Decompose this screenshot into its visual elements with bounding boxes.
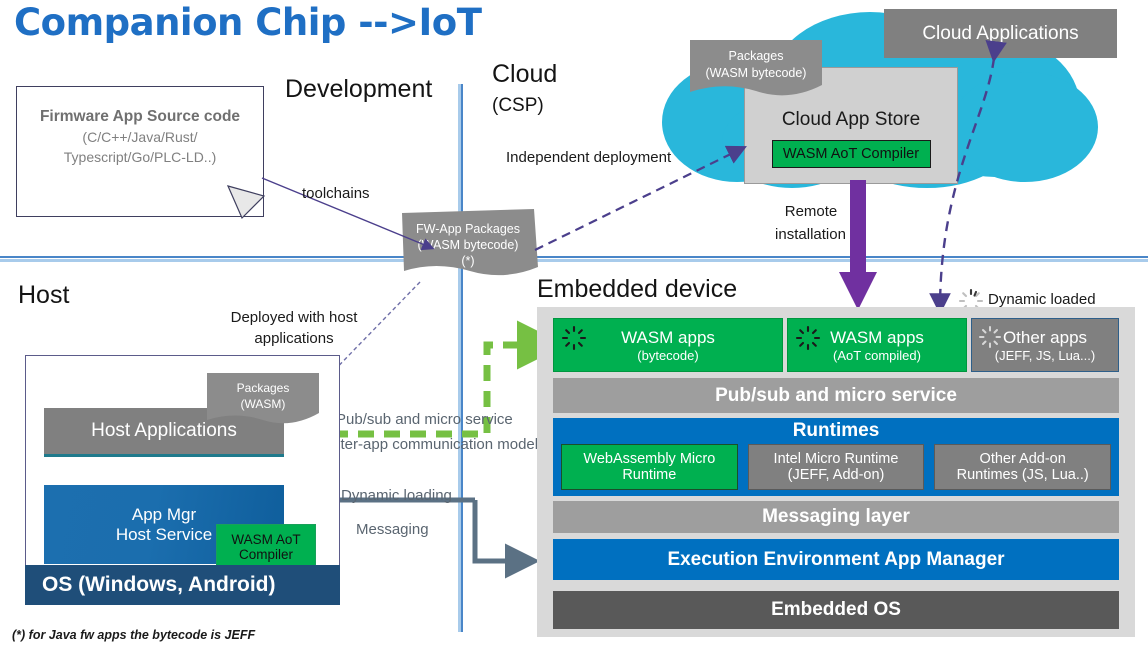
remote-installation-arrow: [838, 180, 878, 312]
runtime-line1-1: Intel Micro Runtime: [774, 451, 899, 467]
runtimes-header-label: Runtimes: [793, 420, 880, 442]
label-inter-app-communication: Inter-app communication models: [328, 436, 546, 453]
embedded-app-sub-1: (AoT compiled): [833, 348, 921, 363]
runtime-line2-2: Runtimes (JS, Lua..): [957, 467, 1089, 483]
embedded-os-label: Embedded OS: [771, 599, 901, 621]
messaging-connector-right: [475, 500, 530, 561]
runtime-line2-1: (JEFF, Add-on): [788, 467, 885, 483]
label-pubsub-micro-service: Pub/sub and micro service: [336, 411, 513, 428]
label-remote-installation-line2: installation: [760, 226, 861, 243]
embedded-app-sub-2: (JEFF, JS, Lua...): [995, 348, 1095, 363]
pubsub-micro-service-bar[interactable]: Pub/sub and micro service: [553, 378, 1119, 413]
footnote: (*) for Java fw apps the bytecode is JEF…: [12, 628, 255, 642]
label-remote-installation-line1: Remote: [775, 203, 847, 220]
host-packages-line2: (WASM): [207, 396, 319, 412]
spinner-icon-app-1: [795, 325, 821, 351]
runtime-line1-2: Other Add-on: [980, 451, 1066, 467]
embedded-device-panel: WASM apps (bytecode) WASM apps (AoT comp…: [537, 307, 1135, 637]
label-deployed-with-host-line2: applications: [219, 330, 369, 347]
app-mgr-line2: Host Service: [116, 525, 212, 545]
embedded-app-title-0: WASM apps: [621, 328, 715, 348]
pubsub-label: Pub/sub and micro service: [715, 385, 957, 407]
exec-env-app-manager-bar[interactable]: Execution Environment App Manager: [553, 539, 1119, 580]
runtime-box-1[interactable]: Intel Micro Runtime (JEFF, Add-on): [748, 444, 925, 490]
embedded-app-title-1: WASM apps: [830, 328, 924, 348]
spinner-icon-app-2: [978, 325, 1002, 349]
runtimes-header: Runtimes: [553, 418, 1119, 444]
slide-canvas: Companion Chip -->IoT Development Cloud …: [0, 0, 1148, 653]
runtime-line1-0: WebAssembly Micro: [583, 451, 715, 467]
label-dynamic-loaded: Dynamic loaded: [988, 291, 1096, 308]
messaging-layer-bar[interactable]: Messaging layer: [553, 501, 1119, 533]
app-mgr-line1: App Mgr: [132, 505, 196, 525]
host-packages-line1: Packages: [207, 380, 319, 396]
embedded-app-sub-0: (bytecode): [637, 348, 698, 363]
runtime-box-2[interactable]: Other Add-on Runtimes (JS, Lua..): [934, 444, 1111, 490]
host-os-label: OS (Windows, Android): [42, 573, 276, 597]
embedded-app-box-0[interactable]: WASM apps (bytecode): [553, 318, 783, 372]
host-packages-callout: Packages (WASM): [207, 373, 319, 425]
label-toolchains: toolchains: [302, 185, 370, 202]
spinner-icon-app-0: [561, 325, 587, 351]
runtimes-group: Runtimes WebAssembly Micro Runtime Intel…: [553, 418, 1119, 496]
exec-env-app-manager-label: Execution Environment App Manager: [667, 549, 1004, 571]
host-wasm-aot-line2: Compiler: [239, 547, 293, 562]
label-dynamic-loading: Dynamic loading: [341, 487, 452, 504]
label-independent-deployment: Independent deployment: [506, 149, 671, 166]
embedded-app-title-2: Other apps: [1003, 328, 1087, 348]
embedded-os-bar[interactable]: Embedded OS: [553, 591, 1119, 629]
cloud-to-device-dashed-arrow: [940, 58, 994, 310]
label-deployed-with-host-line1: Deployed with host: [219, 309, 369, 326]
host-wasm-aot-compiler-box[interactable]: WASM AoT Compiler: [216, 524, 316, 570]
messaging-layer-label: Messaging layer: [762, 506, 910, 528]
label-messaging: Messaging: [356, 521, 429, 538]
runtime-box-0[interactable]: WebAssembly Micro Runtime: [561, 444, 738, 490]
host-wasm-aot-line1: WASM AoT: [231, 532, 300, 547]
host-os-bar[interactable]: OS (Windows, Android): [25, 565, 340, 605]
runtime-line2-0: Runtime: [622, 467, 676, 483]
